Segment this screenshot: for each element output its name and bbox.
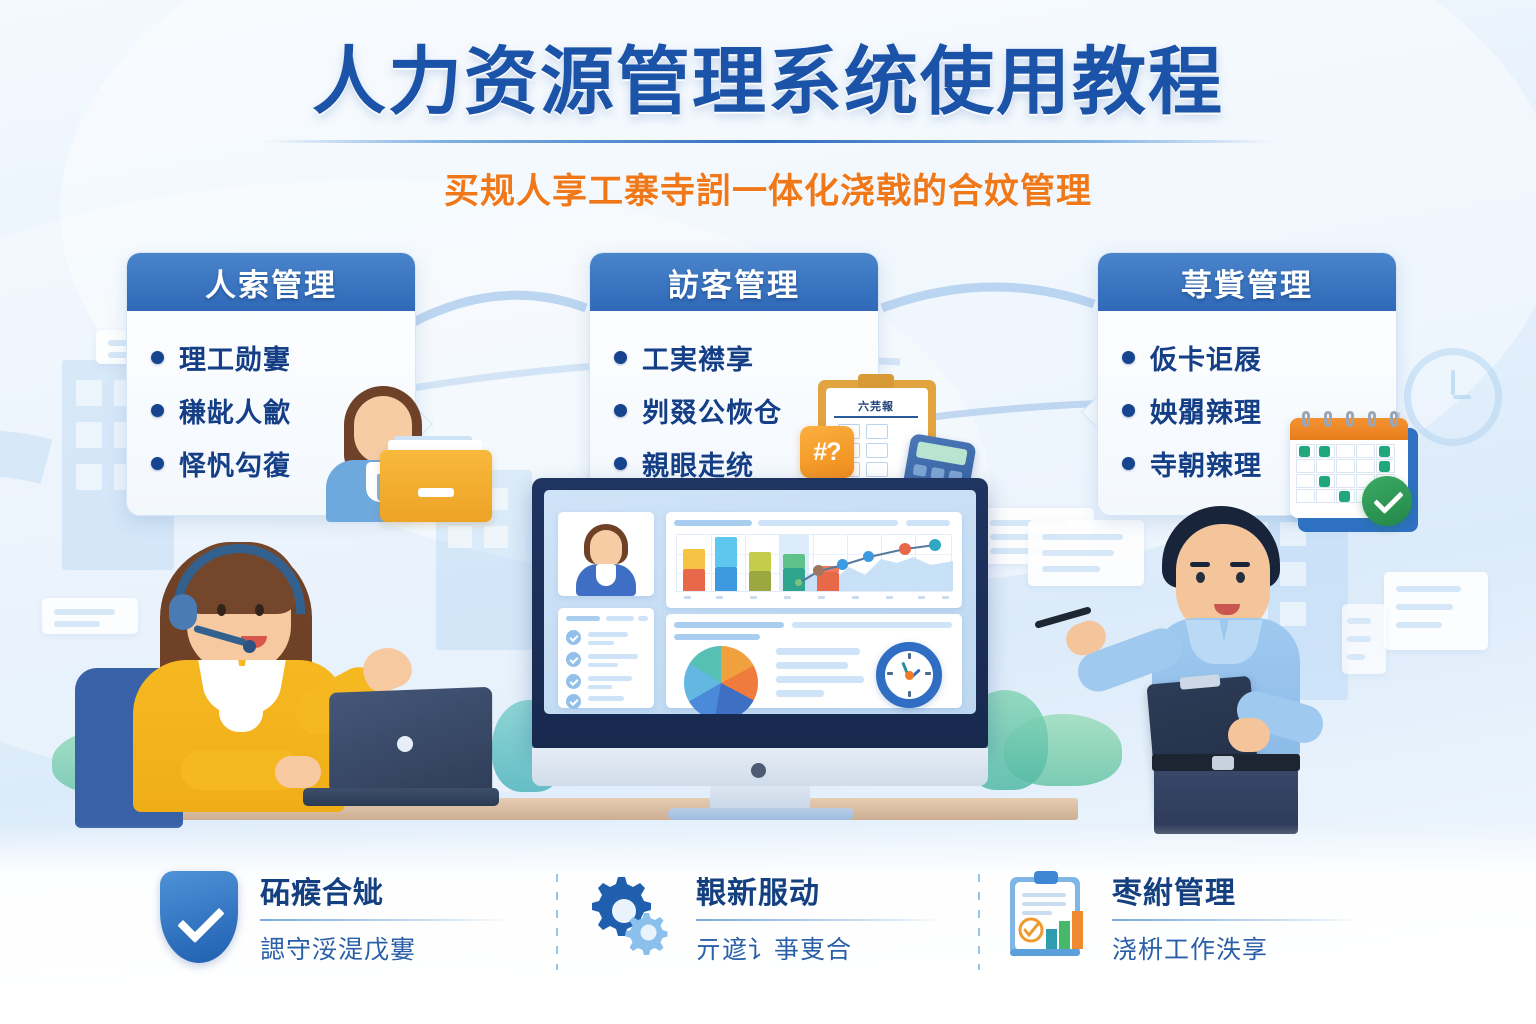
bullet-label: 工実襟享 — [642, 338, 754, 377]
kpi-bar-chart — [676, 534, 952, 592]
calendar-with-check-icon — [1290, 418, 1422, 534]
woman-with-folder-illustration — [322, 382, 502, 522]
headset-earcup-icon — [169, 594, 197, 630]
laptop-logo-icon — [397, 736, 413, 752]
employee-avatar-card[interactable] — [558, 512, 654, 596]
calendar-marked-day — [1319, 476, 1330, 487]
bar-upper — [749, 552, 771, 571]
file-folder-icon — [380, 450, 492, 522]
analog-clock — [876, 642, 942, 708]
bullet-label: 刿叕公恢仓 — [642, 391, 782, 430]
bar-upper — [683, 549, 705, 569]
calculator-display — [916, 441, 968, 465]
form-title-rule — [834, 416, 918, 418]
feature-subtitle: 亓遃讠亊叓合 — [696, 930, 946, 966]
feature-system-management[interactable]: 枣紨管理 浇枡工作泆享 — [980, 868, 1400, 966]
data-point — [899, 543, 911, 555]
badge-label: #? — [813, 438, 840, 467]
bullet-dot-icon — [614, 404, 627, 417]
bullet-dot-icon — [1122, 457, 1135, 470]
calendar-ring — [1302, 411, 1310, 427]
feature-subtitle: 浇枡工作泆享 — [1112, 930, 1362, 966]
feature-subtitle: 諰守浽湜戊寠 — [260, 930, 510, 966]
bar-lower — [749, 571, 771, 591]
card-bullet: 理工勋寠 — [151, 338, 395, 377]
calendar-marked-day — [1299, 446, 1310, 457]
calendar-ring — [1324, 411, 1332, 427]
check-icon — [566, 674, 581, 689]
card-bullet: 仮卡讵屐 — [1122, 338, 1376, 377]
laptop-keyboard-base — [303, 788, 499, 806]
shield-check-icon — [160, 871, 238, 963]
page-title: 人力资源管理系统使用教程 — [0, 42, 1536, 122]
calendar-marked-day — [1339, 491, 1350, 502]
feature-divider — [260, 919, 510, 921]
hash-question-badge: #? — [800, 426, 854, 478]
card-title-personnel: 人索管理 — [205, 260, 337, 305]
card-header-personnel: 人索管理 — [127, 253, 415, 311]
document-watermark-right — [1384, 572, 1488, 650]
feature-title: 枣紨管理 — [1112, 868, 1362, 912]
page-subtitle: 买规人享工寨寺訠一体化浇戟的合妏管理 — [0, 163, 1536, 214]
bullet-label: 怿忛勾蕧 — [179, 444, 291, 483]
title-divider — [263, 140, 1273, 143]
bullet-label: 仮卡讵屐 — [1150, 338, 1262, 377]
hand-supporting — [1228, 718, 1270, 752]
card-title-payroll: 訪客管理 — [668, 260, 800, 305]
calendar-ring — [1346, 411, 1354, 427]
headset-mic-tip-icon — [243, 640, 256, 653]
distribution-pie — [684, 646, 758, 714]
bar-upper — [715, 537, 737, 567]
feature-data-compliance[interactable]: 砳瘊合䂑 諰守浽湜戊寠 — [136, 868, 556, 966]
bullet-dot-icon — [1122, 404, 1135, 417]
bullet-label: 稴龀人龡 — [179, 391, 291, 430]
check-icon — [566, 694, 581, 709]
support-agent-illustration — [75, 520, 505, 830]
feature-title: 砳瘊合䂑 — [260, 868, 510, 912]
data-point — [863, 551, 874, 562]
eyebrow-left — [1190, 562, 1210, 567]
hand-left-typing — [275, 756, 321, 788]
bullet-dot-icon — [151, 457, 164, 470]
calendar-marked-day — [1319, 446, 1330, 457]
calendar-marked-day — [1379, 461, 1390, 472]
calendar-check-badge-icon — [1362, 476, 1412, 526]
data-point — [813, 565, 824, 576]
bullet-dot-icon — [614, 457, 627, 470]
bullet-label: 理工勋寠 — [179, 338, 291, 377]
form-title-text: 六芫報 — [836, 398, 916, 412]
infographic-poster: 人力资源管理系统使用教程 买规人享工寨寺訠一体化浇戟的合妏管理 人索管理 理工勋… — [0, 0, 1536, 1024]
data-point — [929, 539, 941, 551]
analytics-panel[interactable] — [666, 614, 962, 708]
poster-header: 人力资源管理系统使用教程 买规人享工寨寺訠一体化浇戟的合妏管理 — [0, 42, 1536, 214]
bullet-label: 姎朤辣理 — [1150, 391, 1262, 430]
gears-icon — [582, 871, 674, 964]
check-icon — [566, 652, 581, 667]
bullet-dot-icon — [151, 404, 164, 417]
eyebrow-right — [1230, 562, 1250, 567]
manager-illustration — [1040, 500, 1360, 830]
data-point — [795, 579, 802, 586]
feature-divider — [1112, 919, 1362, 921]
clipboard-chart-icon — [1004, 869, 1090, 966]
kpi-chart-panel[interactable] — [666, 512, 962, 608]
card-header-attendance: 荨貲管理 — [1098, 253, 1396, 311]
bar-lower — [683, 569, 705, 591]
eye-left — [1196, 572, 1205, 583]
folder-label-strip — [418, 488, 454, 497]
desktop-monitor[interactable] — [532, 478, 988, 818]
data-point — [837, 559, 848, 570]
bullet-dot-icon — [1122, 351, 1135, 364]
task-checklist-card[interactable] — [558, 608, 654, 708]
card-title-attendance: 荨貲管理 — [1181, 260, 1313, 305]
feature-divider — [696, 919, 946, 921]
monitor-screen[interactable] — [544, 490, 976, 714]
skeleton-line — [570, 502, 630, 508]
eye-right — [1236, 572, 1245, 583]
feature-process-automation[interactable]: 鞎新服动 亓遃讠亊叓合 — [558, 868, 978, 966]
feature-title: 鞎新服动 — [696, 868, 946, 912]
clipboard-clip-icon — [858, 374, 894, 388]
bullet-label: 寺朝辣理 — [1150, 444, 1262, 483]
card-header-payroll: 訪客管理 — [590, 253, 878, 311]
bullet-dot-icon — [614, 351, 627, 364]
calendar-ring — [1390, 411, 1398, 427]
check-icon — [566, 630, 581, 645]
feature-strip: 砳瘊合䂑 諰守浽湜戊寠 鞎新服动 — [0, 868, 1536, 980]
bullet-dot-icon — [151, 351, 164, 364]
calendar-marked-day — [1379, 446, 1390, 457]
shirt-front — [219, 666, 263, 732]
monitor-power-indicator — [751, 763, 766, 778]
monitor-stand-foot — [668, 808, 854, 820]
calendar-ring — [1368, 411, 1376, 427]
bar-lower — [715, 567, 737, 591]
belt-buckle — [1212, 756, 1234, 770]
